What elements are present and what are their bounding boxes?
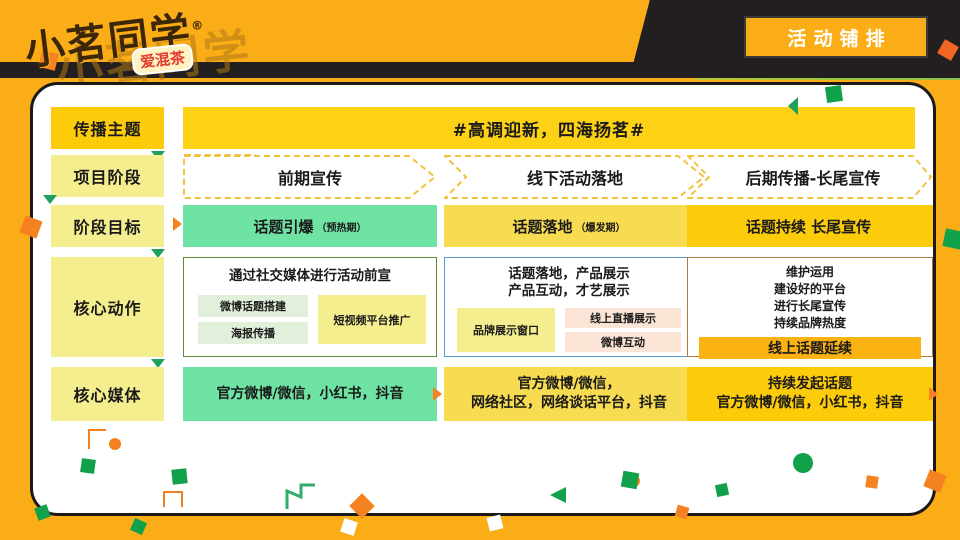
goal-box-2: 话题落地（爆发期） [444, 205, 694, 247]
outer-square-green-6 [715, 483, 729, 497]
action-highlight-3[interactable]: 线上话题延续 [699, 337, 921, 359]
action-tag-1-3[interactable]: 短视频平台推广 [318, 295, 426, 344]
row-label-stage: 项目阶段 [51, 155, 164, 197]
action-title-2-line2: 产品互动，才艺展示 [445, 283, 693, 300]
media-line-2-1: 官方微博/微信， [471, 375, 667, 394]
theme-value: #高调迎新，四海扬茗# [183, 107, 915, 149]
action-box-1: 通过社交媒体进行活动前宣 微博话题搭建 海报传播 短视频平台推广 [183, 257, 437, 357]
goal-note-2: （爆发期） [576, 219, 626, 234]
action-line-3-1: 维护运用 [688, 264, 932, 281]
outer-square-green-3 [621, 471, 640, 490]
stage-label-2: 线下活动落地 [444, 155, 706, 199]
action-title-2-line1: 话题落地，产品展示 [445, 266, 693, 283]
goal-box-3: 话题持续 长尾宣传 [687, 205, 933, 247]
action-line-3-3: 进行长尾宣传 [688, 298, 932, 315]
stage-label-1: 前期宣传 [183, 155, 437, 199]
row-label-media: 核心媒体 [51, 367, 164, 421]
action-tag-2-2[interactable]: 线上直播展示 [565, 308, 681, 328]
triangle-right-orange-icon-3 [929, 387, 938, 401]
action-tag-1-2[interactable]: 海报传播 [198, 322, 308, 344]
goal-main-1: 话题引爆 [253, 216, 313, 237]
media-box-1: 官方微博/微信，小红书，抖音 [183, 367, 437, 421]
action-box-3: 维护运用 建设好的平台 进行长尾宣传 持续品牌热度 线上话题延续 [687, 257, 933, 357]
triangle-right-orange-icon [173, 217, 182, 231]
triangle-left-green-icon [788, 97, 798, 115]
action-title-1: 通过社交媒体进行活动前宣 [184, 268, 436, 285]
outer-square-green-2 [825, 85, 843, 103]
goal-main-2: 话题落地 [512, 216, 572, 237]
media-line-2-2: 网络社区，网络谈话平台，抖音 [471, 394, 667, 413]
outer-square-green-4 [130, 518, 147, 535]
registered-trademark-icon: ® [190, 18, 206, 34]
goal-note-1: （预热期） [317, 219, 367, 234]
title-banner: 活动铺排 [744, 16, 928, 58]
bracket-decoration-2 [163, 491, 183, 507]
triangle-right-orange-icon-2 [433, 387, 442, 401]
stage-label-3: 后期传播-长尾宣传 [693, 155, 933, 199]
title-banner-label: 活动铺排 [780, 24, 891, 51]
media-line-3-2: 官方微博/微信，小红书，抖音 [716, 394, 903, 413]
triangle-down-green-icon-2 [43, 195, 57, 204]
triangle-left-decoration [548, 485, 570, 505]
row-label-goal: 阶段目标 [51, 205, 164, 247]
outer-square-white-1 [340, 518, 358, 536]
outer-square-green-1 [942, 228, 960, 249]
bracket-decoration-1 [88, 429, 106, 449]
action-line-3-2: 建设好的平台 [688, 281, 932, 298]
zigzag-decoration [285, 483, 319, 516]
square-decoration-1 [80, 458, 96, 474]
media-box-2: 官方微博/微信， 网络社区，网络谈话平台，抖音 [444, 367, 694, 421]
content-card: 传播主题 #高调迎新，四海扬茗# 项目阶段 前期宣传 线下活动落地 [30, 82, 936, 516]
dot-decoration-1 [109, 438, 121, 450]
outer-square-orange-5 [865, 475, 879, 489]
media-line-3-1: 持续发起话题 [716, 375, 903, 394]
media-box-3: 持续发起话题 官方微博/微信，小红书，抖音 [687, 367, 933, 421]
goal-box-1: 话题引爆（预热期） [183, 205, 437, 247]
action-line-3-4: 持续品牌热度 [688, 315, 932, 332]
plan-table: 传播主题 #高调迎新，四海扬茗# 项目阶段 前期宣传 线下活动落地 [33, 85, 933, 513]
brand-logo: 小茗同学 小茗同学® 爱混茶 [14, 2, 294, 82]
dot-decoration-3 [793, 453, 813, 473]
square-decoration-2 [171, 468, 187, 484]
action-tag-2-1[interactable]: 品牌展示窗口 [457, 308, 555, 352]
action-box-2: 话题落地，产品展示 产品互动，才艺展示 品牌展示窗口 线上直播展示 微博互动 [444, 257, 694, 357]
outer-square-orange-4 [675, 505, 690, 520]
diamond-decoration [349, 493, 374, 518]
row-label-theme: 传播主题 [51, 107, 164, 149]
slide-canvas: 小茗同学 小茗同学® 爱混茶 活动铺排 传播主题 #高调迎新，四海扬茗# 项目阶… [0, 0, 960, 540]
media-line-1-1: 官方微博/微信，小红书，抖音 [216, 385, 403, 404]
action-tag-1-1[interactable]: 微博话题搭建 [198, 295, 308, 317]
outer-square-white-2 [487, 515, 504, 532]
row-label-action: 核心动作 [51, 257, 164, 357]
action-tag-2-3[interactable]: 微博互动 [565, 332, 681, 352]
goal-main-3: 话题持续 长尾宣传 [746, 216, 871, 237]
